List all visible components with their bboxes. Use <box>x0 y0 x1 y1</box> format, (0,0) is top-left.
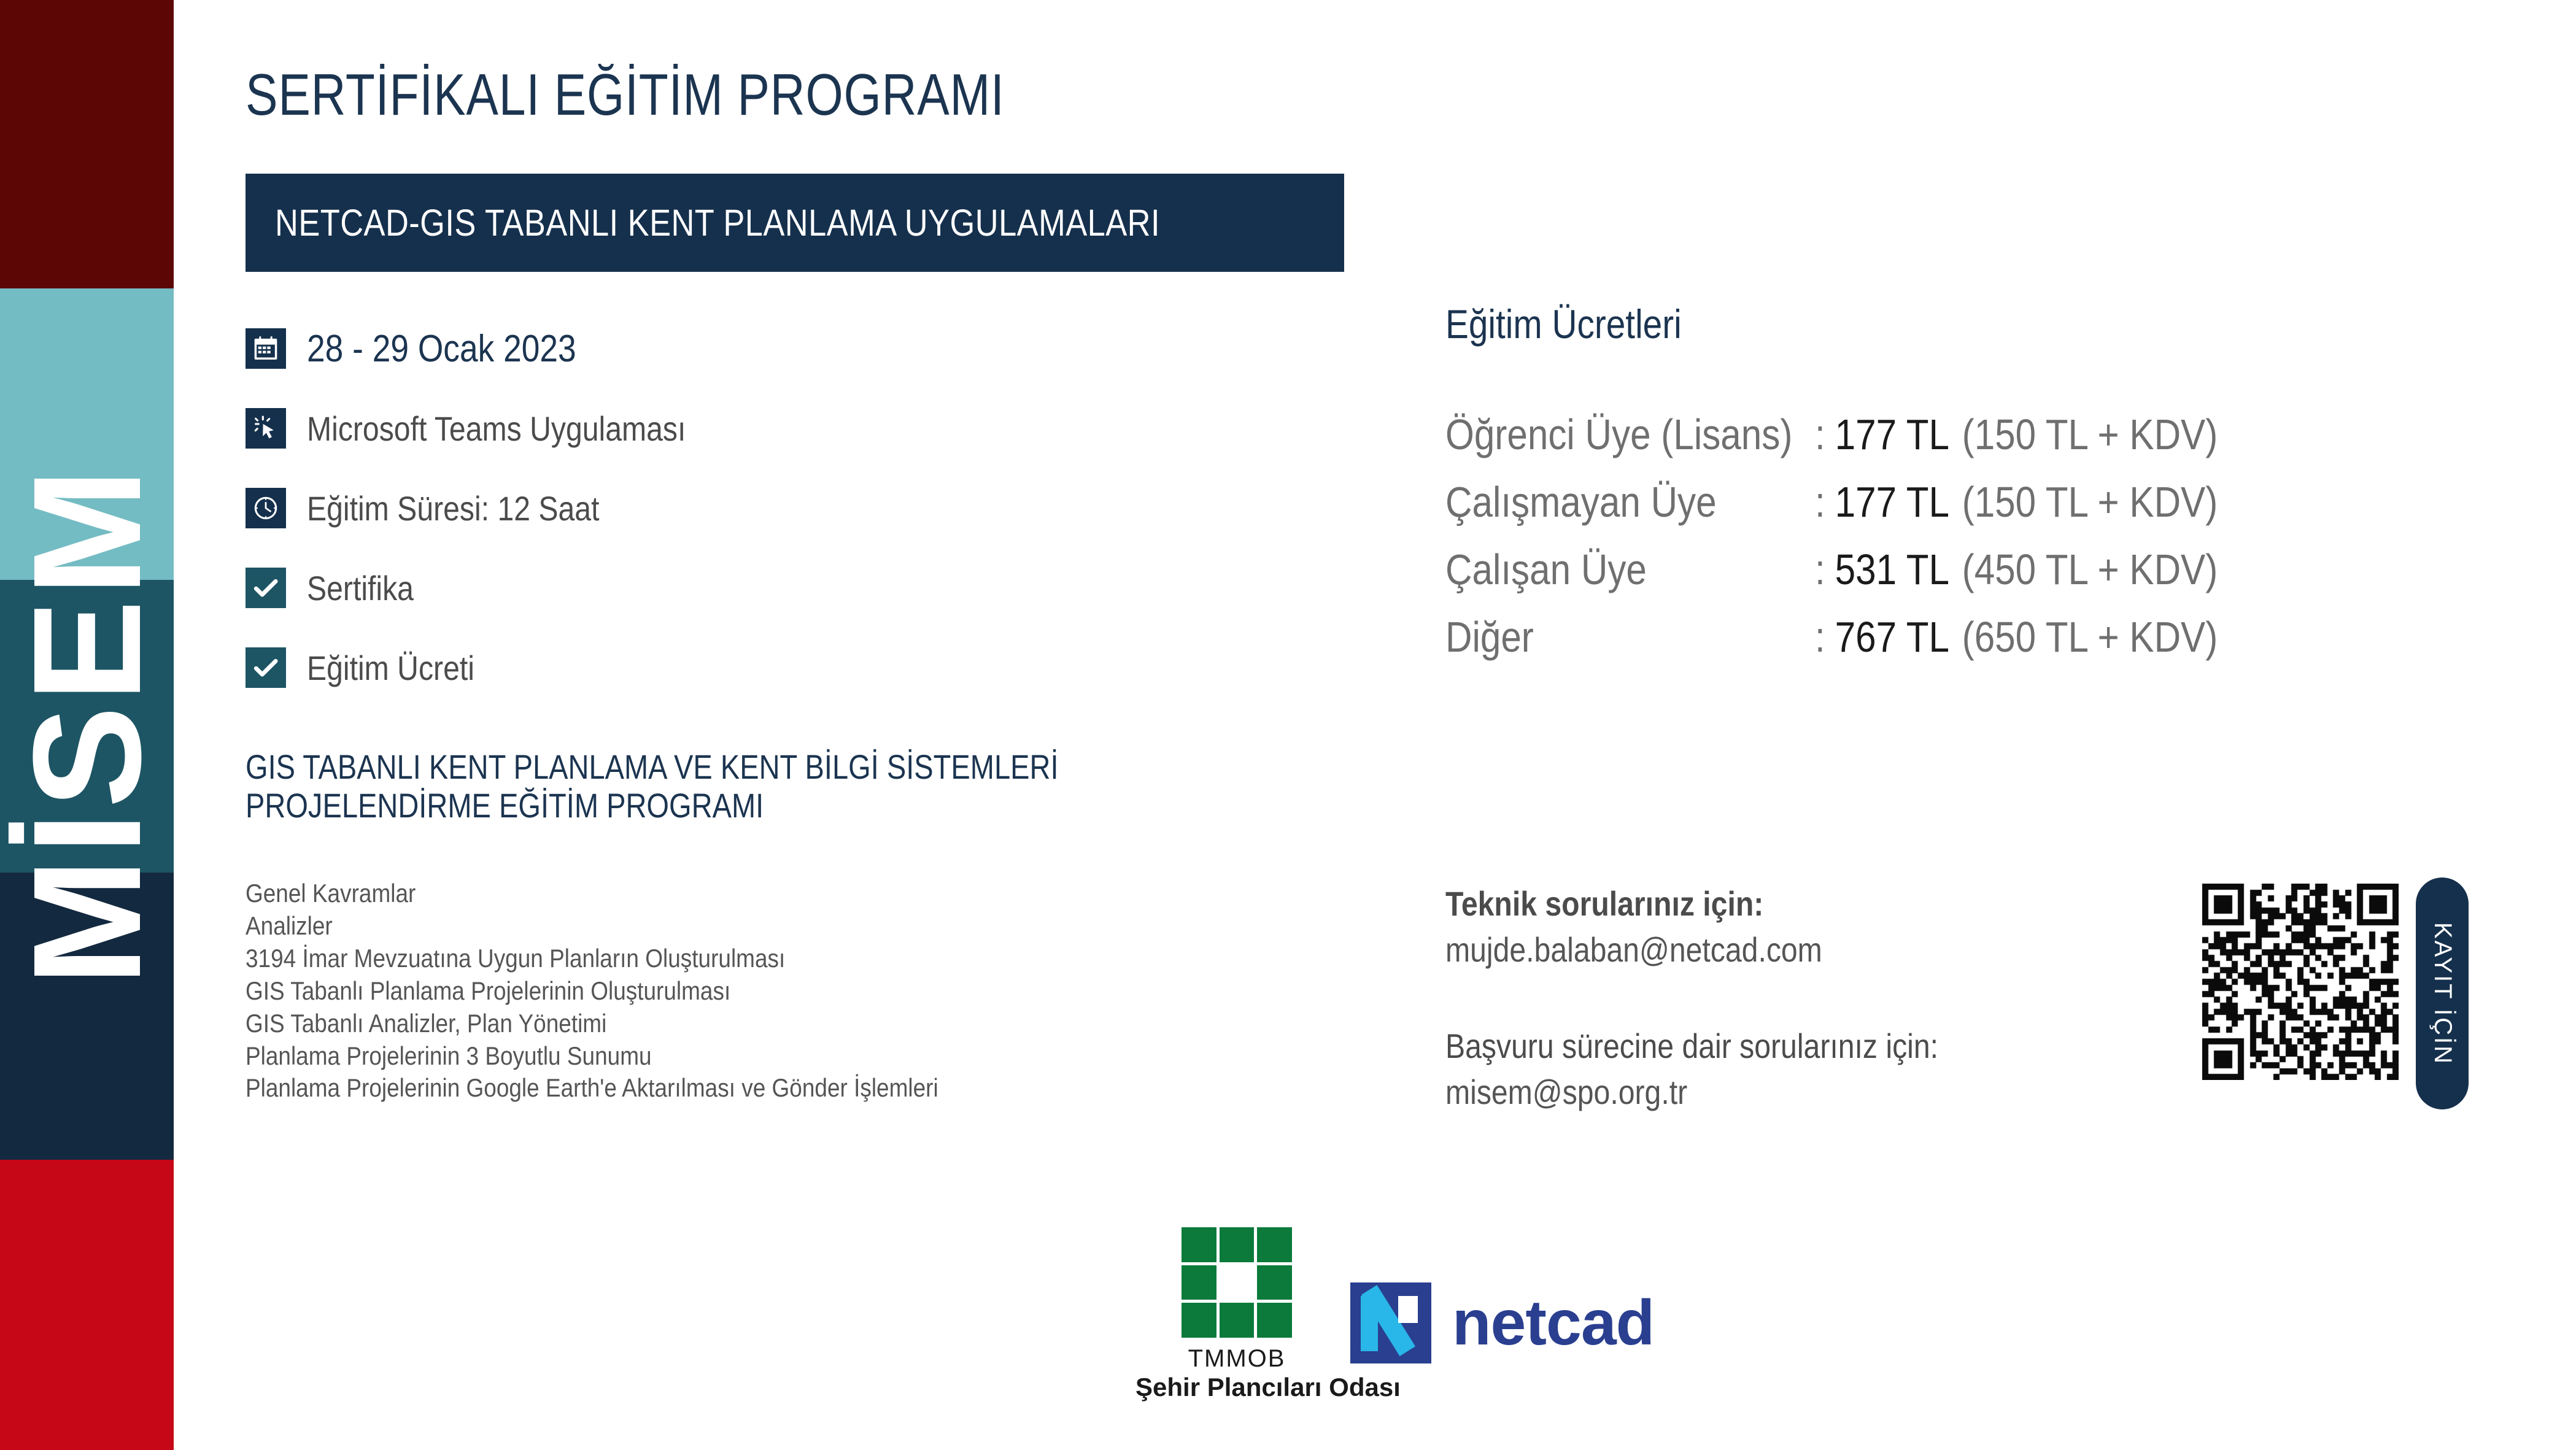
sidebar-band-mid-teal <box>0 580 174 873</box>
technical-contact-label: Teknik sorularınız için: <box>1445 884 2079 924</box>
application-contact-email[interactable]: misem@spo.org.tr <box>1445 1072 2079 1112</box>
table-row: Çalışan Üye : 531 TL (450 TL + KDV) <box>1445 545 2316 612</box>
list-item: Planlama Projelerinin Google Earth'e Akt… <box>246 1072 1272 1105</box>
contact-spacer <box>1445 970 2182 1026</box>
info-label-fee: Eğitim Ücreti <box>307 648 474 688</box>
info-row-fee: Eğitim Ücreti <box>246 633 1105 702</box>
netcad-wordmark: netcad <box>1452 1291 1654 1355</box>
clock-icon <box>246 488 286 528</box>
info-row-date: 28 - 29 Ocak 2023 <box>246 314 1105 383</box>
sidebar-band-light-teal <box>0 288 174 580</box>
check-icon <box>246 647 286 688</box>
fee-amount: 767 TL <box>1835 612 1949 661</box>
fee-label: Öğrenci Üye (Lisans) <box>1445 410 1815 459</box>
sidebar-band-navy <box>0 873 174 1160</box>
fee-separator: : <box>1815 477 1835 526</box>
fee-detail: (450 TL + KDV) <box>1962 545 2218 594</box>
table-row: Çalışmayan Üye : 177 TL (150 TL + KDV) <box>1445 477 2316 545</box>
list-item: 3194 İmar Mevzuatına Uygun Planların Olu… <box>246 943 1272 975</box>
info-label-date: 28 - 29 Ocak 2023 <box>307 327 576 371</box>
fees-table: Öğrenci Üye (Lisans) : 177 TL (150 TL + … <box>1445 410 2458 680</box>
brand-sidebar: MİSEM <box>0 0 174 1450</box>
course-info-list: 28 - 29 Ocak 2023 Microsoft Teams Uygula… <box>246 314 1105 713</box>
registration-tab-label: KAYIT İÇİN <box>2429 922 2456 1065</box>
course-title-banner: NETCAD-GIS TABANLI KENT PLANLAMA UYGULAM… <box>246 174 1344 272</box>
info-label-platform: Microsoft Teams Uygulaması <box>307 409 686 449</box>
qr-code[interactable] <box>2202 884 2399 1080</box>
fee-detail: (650 TL + KDV) <box>1962 612 2218 661</box>
netcad-logo: netcad <box>1350 1282 1654 1363</box>
list-item: Planlama Projelerinin 3 Boyutlu Sunumu <box>246 1040 1272 1073</box>
sidebar-band-red <box>0 1160 174 1450</box>
tmmob-sub-name: Şehir Plancıları Odası <box>1135 1373 1338 1402</box>
list-item: GIS Tabanlı Planlama Projelerinin Oluştu… <box>246 975 1272 1008</box>
fee-label: Çalışmayan Üye <box>1445 477 1815 526</box>
list-item: GIS Tabanlı Analizler, Plan Yönetimi <box>246 1008 1272 1040</box>
fee-detail: (150 TL + KDV) <box>1962 477 2218 526</box>
list-item: Genel Kavramlar <box>246 877 1272 910</box>
info-row-platform: Microsoft Teams Uygulaması <box>246 394 1105 463</box>
table-row: Öğrenci Üye (Lisans) : 177 TL (150 TL + … <box>1445 410 2316 477</box>
fee-separator: : <box>1815 410 1835 459</box>
page-title: SERTİFİKALI EĞİTİM PROGRAMI <box>246 61 1005 129</box>
application-contact-label: Başvuru sürecine dair sorularınız için: <box>1445 1026 2079 1066</box>
program-heading: GIS TABANLI KENT PLANLAMA VE KENT BİLGİ … <box>246 747 1350 825</box>
registration-area: KAYIT İÇİN <box>2202 884 2460 1129</box>
fee-amount: 177 TL <box>1835 477 1949 526</box>
fee-separator: : <box>1815 612 1835 661</box>
netcad-mark-icon <box>1350 1282 1431 1363</box>
fees-section-title: Eğitim Ücretleri <box>1445 301 1682 347</box>
fee-amount: 531 TL <box>1835 545 1949 594</box>
fee-amount: 177 TL <box>1835 410 1949 459</box>
program-heading-line-1: GIS TABANLI KENT PLANLAMA VE KENT BİLGİ … <box>246 747 1174 786</box>
info-row-duration: Eğitim Süresi: 12 Saat <box>246 474 1105 542</box>
list-item: Analizler <box>246 910 1272 943</box>
course-title-text: NETCAD-GIS TABANLI KENT PLANLAMA UYGULAM… <box>275 201 1160 244</box>
fee-separator: : <box>1815 545 1835 594</box>
info-row-certificate: Sertifika <box>246 553 1105 622</box>
program-heading-line-2: PROJELENDİRME EĞİTİM PROGRAMI <box>246 786 1174 825</box>
program-topic-list: Genel Kavramlar Analizler 3194 İmar Mevz… <box>246 877 1412 1105</box>
tmmob-name: TMMOB <box>1135 1345 1338 1373</box>
technical-contact-email[interactable]: mujde.balaban@netcad.com <box>1445 930 2079 970</box>
fee-label: Diğer <box>1445 612 1815 661</box>
info-label-certificate: Sertifika <box>307 568 414 608</box>
info-label-duration: Eğitim Süresi: 12 Saat <box>307 488 599 528</box>
fee-label: Çalışan Üye <box>1445 545 1815 594</box>
registration-tab[interactable]: KAYIT İÇİN <box>2416 877 2469 1109</box>
tmmob-grid-icon <box>1182 1227 1292 1338</box>
tmmob-logo: TMMOB Şehir Plancıları Odası <box>1135 1227 1338 1402</box>
table-row: Diğer : 767 TL (650 TL + KDV) <box>1445 612 2316 680</box>
fee-detail: (150 TL + KDV) <box>1962 410 2218 459</box>
cursor-click-icon <box>246 408 286 449</box>
sidebar-band-dark-red <box>0 0 174 288</box>
footer-logos: TMMOB Şehir Plancıları Odası netcad <box>1086 1227 1762 1448</box>
calendar-icon <box>246 328 286 369</box>
check-icon <box>246 568 286 608</box>
contact-block: Teknik sorularınız için: mujde.balaban@n… <box>1445 884 2182 1112</box>
